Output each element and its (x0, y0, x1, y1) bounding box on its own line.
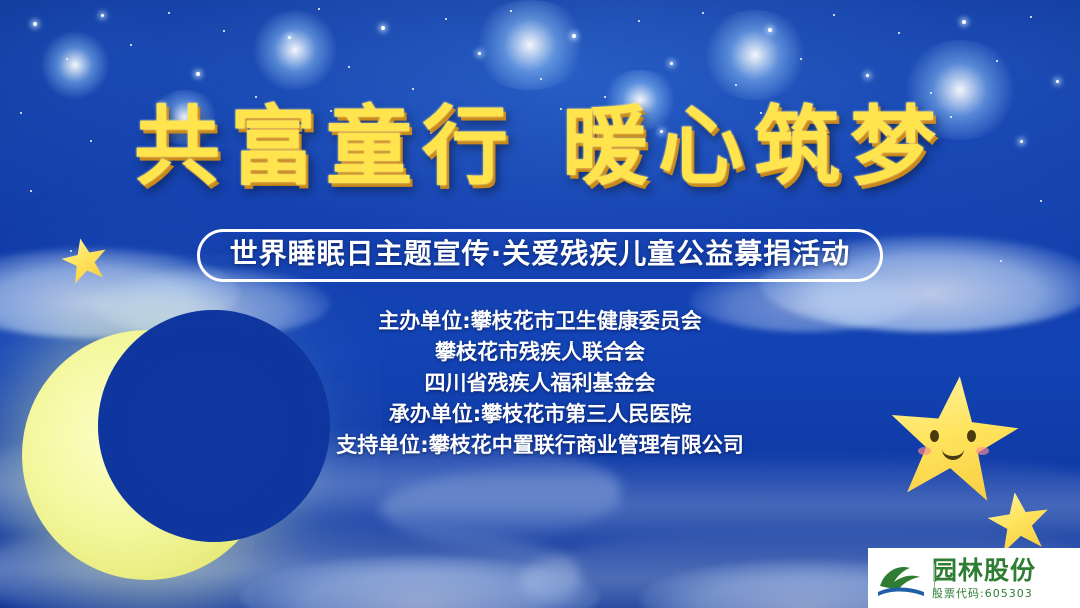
sponsor-logo: 园林股份 股票代码:605303 (868, 548, 1080, 608)
organizer-line: 四川省残疾人福利基金会 (0, 368, 1080, 399)
organizer-list: 主办单位:攀枝花市卫生健康委员会 攀枝花市残疾人联合会 四川省残疾人福利基金会 … (0, 306, 1080, 461)
logo-stock-code: 股票代码:605303 (932, 588, 1036, 599)
poster-headline: 共富童行暖心筑梦 (0, 104, 1080, 190)
headline-left: 共富童行 (134, 97, 518, 197)
organizer-line: 攀枝花市残疾人联合会 (0, 337, 1080, 368)
logo-company-name: 园林股份 (932, 558, 1036, 583)
logo-text-block: 园林股份 股票代码:605303 (932, 558, 1036, 599)
organizer-line: 支持单位:攀枝花中置联行商业管理有限公司 (0, 430, 1080, 461)
organizer-line: 主办单位:攀枝花市卫生健康委员会 (0, 306, 1080, 337)
poster-canvas: 共富童行暖心筑梦 世界睡眠日主题宣传·关爱残疾儿童公益募捐活动 主办单位:攀枝花… (0, 0, 1080, 608)
organizer-line: 承办单位:攀枝花市第三人民医院 (0, 399, 1080, 430)
poster-subtitle: 世界睡眠日主题宣传·关爱残疾儿童公益募捐活动 (197, 229, 884, 282)
tree-leaf-icon (874, 556, 928, 600)
headline-right: 暖心筑梦 (562, 97, 946, 197)
subtitle-container: 世界睡眠日主题宣传·关爱残疾儿童公益募捐活动 (0, 229, 1080, 282)
